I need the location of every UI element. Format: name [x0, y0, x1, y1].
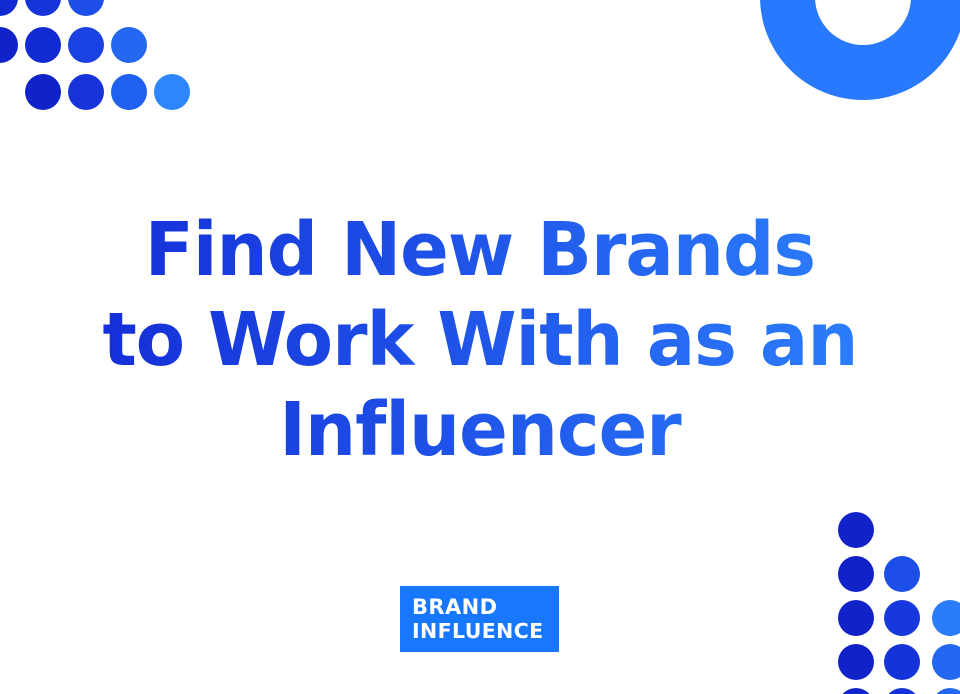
- decorative-dot: [111, 74, 147, 110]
- decorative-dot: [932, 644, 960, 680]
- decorative-ring-top-right: [760, 0, 960, 100]
- brand-logo-badge: BRAND INFLUENCE: [400, 586, 559, 652]
- decorative-dot: [111, 27, 147, 63]
- decorative-dot: [884, 600, 920, 636]
- brand-logo-line-1: BRAND: [412, 595, 497, 619]
- decorative-dot: [838, 556, 874, 592]
- decorative-dot: [68, 27, 104, 63]
- decorative-dot: [0, 0, 18, 16]
- decorative-dot-grid-top-left: [0, 0, 210, 120]
- decorative-dot: [68, 74, 104, 110]
- decorative-dot: [0, 27, 18, 63]
- decorative-dot: [932, 600, 960, 636]
- headline-line-3: Influencer: [14, 385, 945, 475]
- decorative-dot: [838, 600, 874, 636]
- decorative-dot: [838, 644, 874, 680]
- headline-line-2: to Work With as an: [14, 295, 945, 385]
- decorative-dot: [884, 688, 920, 694]
- headline-line-1: Find New Brands: [14, 205, 945, 295]
- decorative-dot: [932, 688, 960, 694]
- decorative-dot: [838, 512, 874, 548]
- decorative-dot-grid-bottom-right: [816, 500, 960, 694]
- decorative-dot: [884, 556, 920, 592]
- decorative-dot: [25, 27, 61, 63]
- poster-canvas: Find New Brands to Work With as an Influ…: [0, 0, 960, 694]
- decorative-dot: [25, 74, 61, 110]
- page-title: Find New Brands to Work With as an Influ…: [0, 205, 960, 475]
- decorative-dot: [154, 74, 190, 110]
- decorative-dot: [884, 644, 920, 680]
- decorative-dot: [838, 688, 874, 694]
- brand-logo-line-2: INFLUENCE: [412, 619, 544, 643]
- decorative-dot: [68, 0, 104, 16]
- decorative-dot: [25, 0, 61, 16]
